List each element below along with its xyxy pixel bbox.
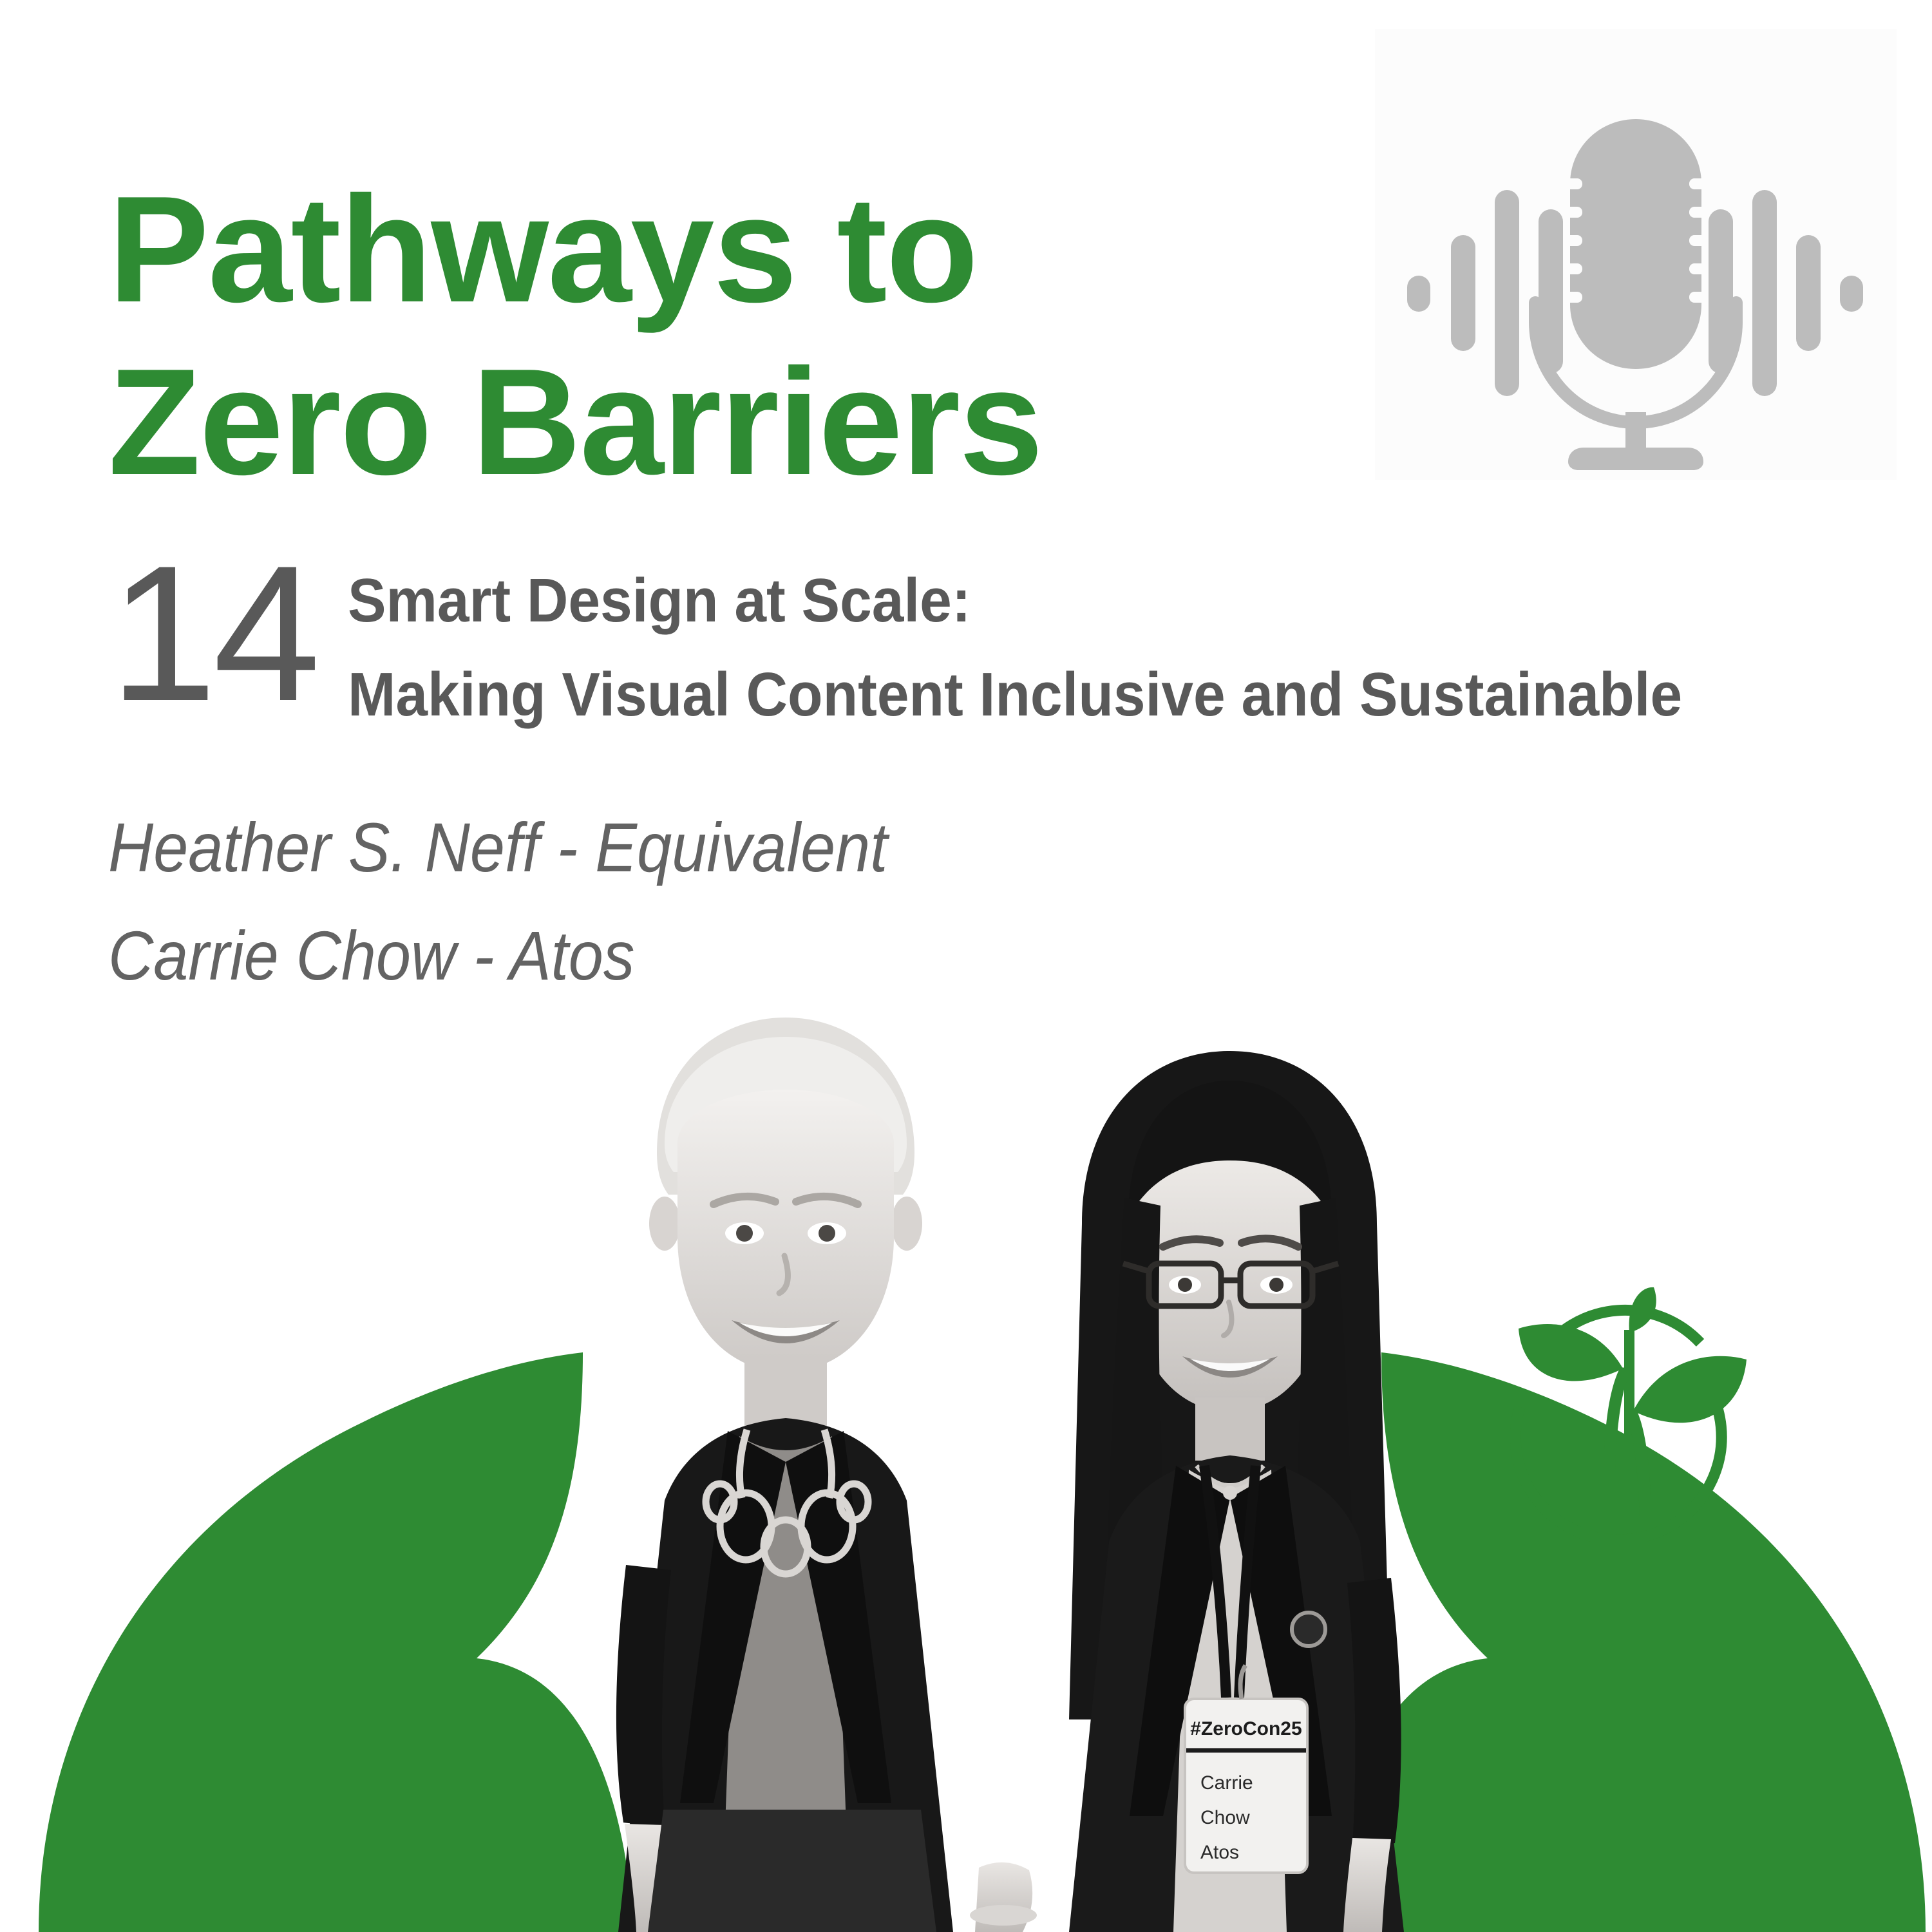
podcast-cover: Pathways to Zero Barriers 14 Smart Desig… (0, 0, 1932, 1932)
sprout-in-circle-icon (1501, 1285, 1758, 1542)
episode-block: 14 Smart Design at Scale: Making Visual … (109, 540, 1848, 742)
speakers-photo: #ZeroCon25 Carrie Chow Atos (425, 1011, 1468, 1932)
title-line-1: Pathways to (108, 163, 1332, 336)
microphone-soundwave-icon (1375, 29, 1897, 480)
episode-title-line-2: Making Visual Content Inclusive and Sust… (348, 648, 1743, 742)
svg-text:Carrie: Carrie (1200, 1772, 1253, 1794)
episode-number: 14 (109, 540, 348, 727)
svg-text:Chow: Chow (1200, 1807, 1250, 1828)
svg-text:Atos: Atos (1200, 1842, 1239, 1863)
title-line-2: Zero Barriers (108, 336, 1332, 508)
speaker-name-1: Heather S. Neff - Equivalent (108, 793, 1325, 902)
svg-text:#ZeroCon25: #ZeroCon25 (1190, 1718, 1302, 1739)
episode-title: Smart Design at Scale: Making Visual Con… (348, 540, 1848, 742)
speaker-name-2: Carrie Chow - Atos (108, 902, 1325, 1010)
speaker-list: Heather S. Neff - Equivalent Carrie Chow… (108, 793, 1461, 1010)
episode-title-line-1: Smart Design at Scale: (348, 554, 1743, 648)
page-title: Pathways to Zero Barriers (108, 163, 1332, 508)
